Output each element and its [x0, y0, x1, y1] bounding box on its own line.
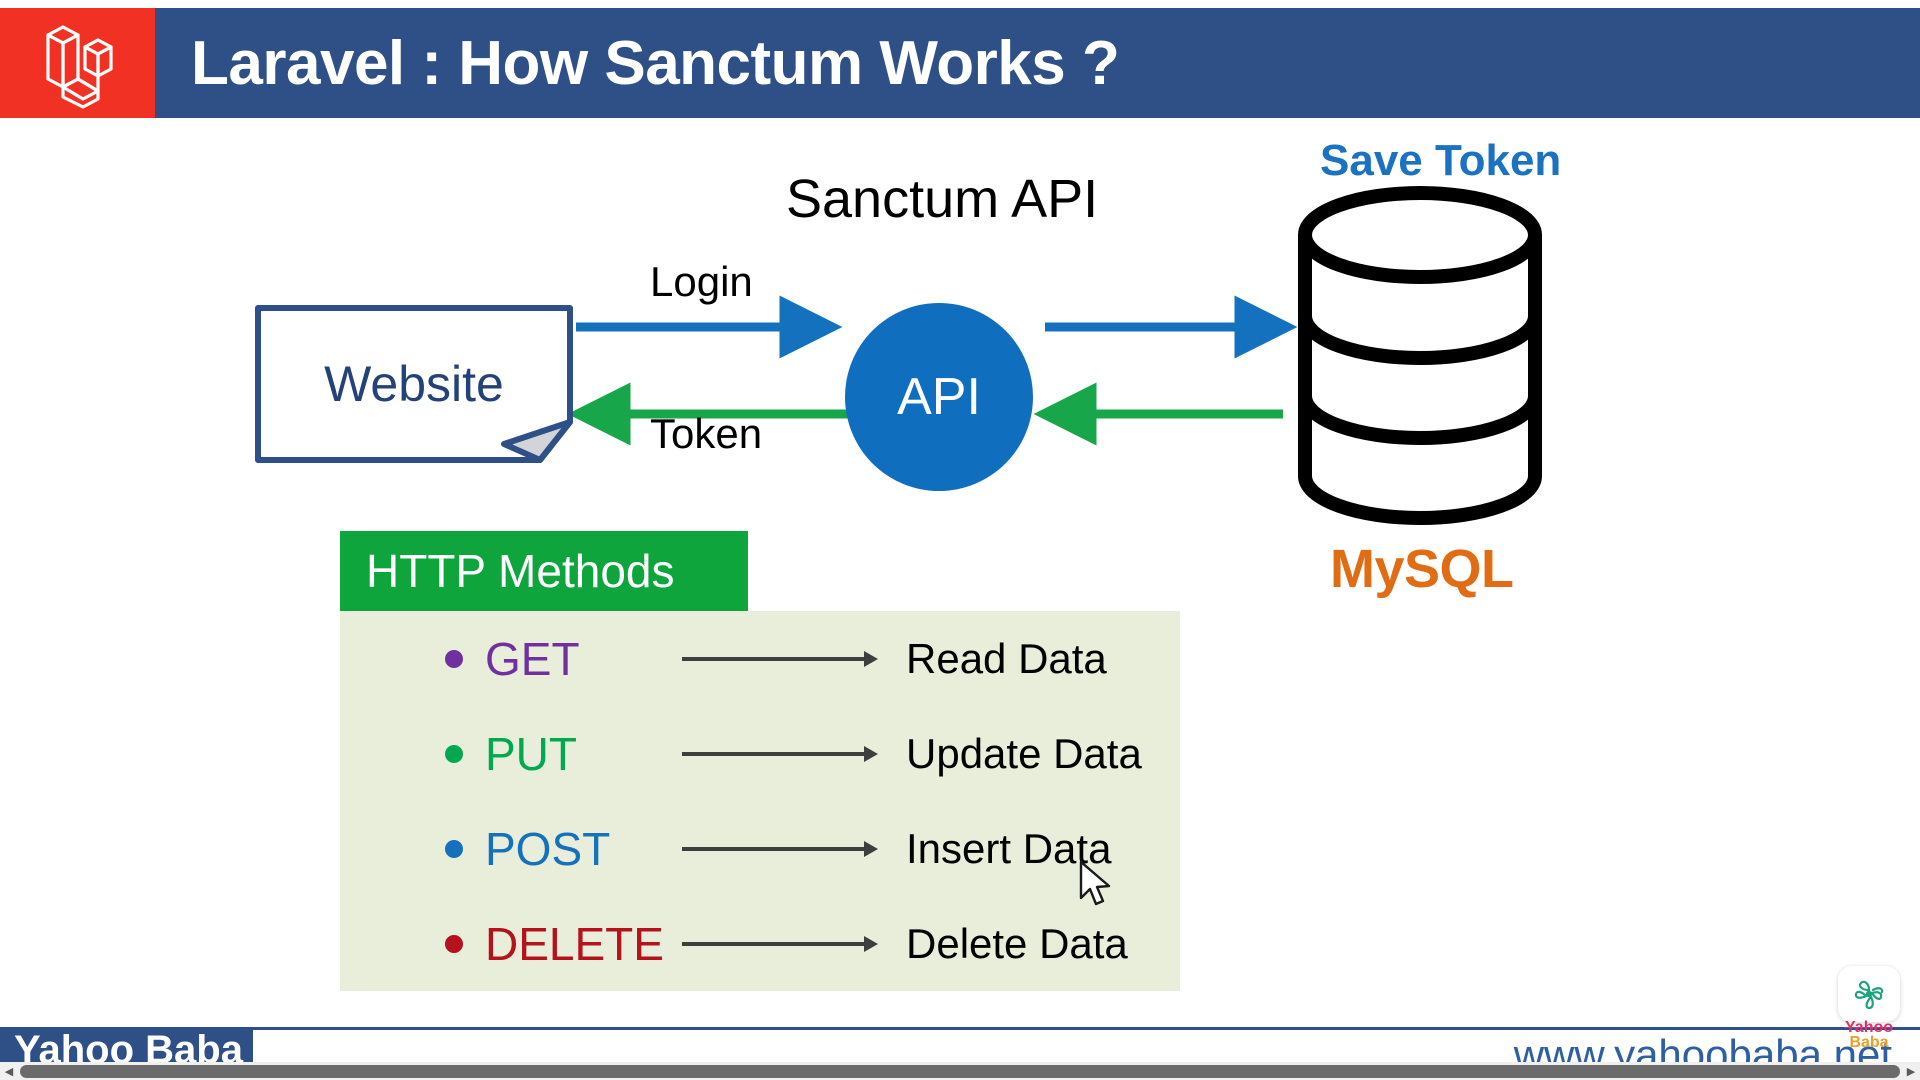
bullet-icon [445, 745, 463, 763]
api-circle-label: API [897, 371, 981, 423]
http-method-row: PUT Update Data [340, 706, 1180, 801]
http-methods-header-label: HTTP Methods [366, 544, 674, 598]
http-method-row: GET Read Data [340, 611, 1180, 706]
bullet-icon [445, 935, 463, 953]
mapping-arrow-icon [680, 649, 880, 669]
mapping-arrow-icon [680, 839, 880, 859]
scrollbar-left-arrow-icon[interactable]: ◀ [0, 1062, 18, 1080]
http-method-name: POST [485, 822, 680, 876]
api-circle-node[interactable]: API [845, 303, 1033, 491]
http-method-name: PUT [485, 727, 680, 781]
green-pinwheel-icon [1852, 977, 1886, 1011]
database-cylinder-icon [1295, 183, 1545, 528]
footer-watermark: Yahoo Baba [1845, 1020, 1893, 1050]
page-title: Laravel : How Sanctum Works ? [191, 28, 1119, 99]
mapping-arrow-icon [680, 934, 880, 954]
footer-divider [0, 1027, 1920, 1030]
scrollbar-thumb[interactable] [20, 1065, 1900, 1078]
save-token-label: Save Token [1320, 136, 1561, 186]
http-method-description: Update Data [906, 730, 1142, 778]
http-method-row: DELETE Delete Data [340, 896, 1180, 991]
slide-canvas: Sanctum API Save Token Website API Login… [0, 118, 1920, 1018]
http-method-name: DELETE [485, 917, 680, 971]
http-method-description: Delete Data [906, 920, 1128, 968]
http-methods-header: HTTP Methods [340, 531, 748, 611]
watermark-bottom-label: Baba [1845, 1035, 1893, 1050]
bullet-icon [445, 650, 463, 668]
token-arrow-label: Token [650, 410, 762, 458]
laravel-logo-tile [0, 8, 155, 118]
mouse-pointer-icon [1078, 860, 1112, 908]
laravel-logo-icon [30, 17, 126, 109]
http-method-name: GET [485, 632, 680, 686]
scrollbar-right-arrow-icon[interactable]: ▶ [1902, 1062, 1920, 1080]
http-methods-panel: GET Read Data PUT Update Data PO [340, 611, 1180, 991]
mapping-arrow-icon [680, 744, 880, 764]
title-bar: Laravel : How Sanctum Works ? [0, 8, 1920, 118]
watermark-top-label: Yahoo [1845, 1020, 1893, 1035]
website-document-shape[interactable] [254, 304, 574, 464]
mysql-label: MySQL [1330, 538, 1514, 600]
horizontal-scrollbar[interactable]: ◀ ▶ [0, 1062, 1920, 1080]
bullet-icon [445, 840, 463, 858]
http-method-description: Read Data [906, 635, 1107, 683]
login-arrow-label: Login [650, 258, 753, 306]
http-method-row: POST Insert Data [340, 801, 1180, 896]
sanctum-api-label: Sanctum API [786, 168, 1098, 230]
green-pinwheel-badge[interactable] [1838, 966, 1900, 1022]
